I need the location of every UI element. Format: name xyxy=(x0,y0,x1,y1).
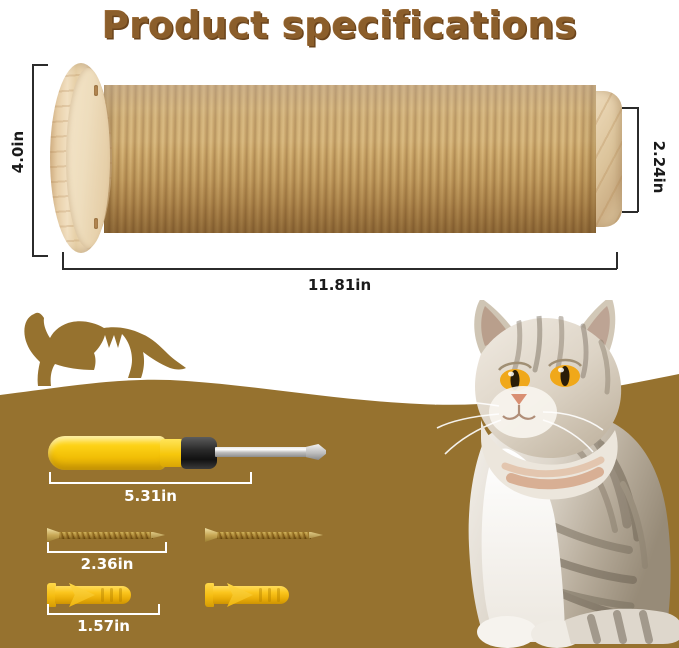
diameter-dimension-line xyxy=(637,107,639,212)
screwdriver-dimension-line xyxy=(49,482,252,484)
wood-screw-2 xyxy=(205,528,325,542)
page-title: Product specifications xyxy=(0,4,679,47)
anchor-rib xyxy=(268,588,271,602)
anchor-rib xyxy=(119,588,122,602)
product-specification-page: Product specifications 4.0in 2.24in 11.8… xyxy=(0,0,679,648)
length-dimension-label: 11.81in xyxy=(62,276,617,294)
anchor-rib xyxy=(101,588,104,602)
diameter-dimension-tick-top xyxy=(622,107,638,109)
wood-screw-1 xyxy=(47,528,167,542)
rope-shadow-right xyxy=(582,85,596,233)
screw-thread xyxy=(217,532,311,539)
length-dimension-line xyxy=(62,268,617,270)
screw-dimension-line xyxy=(47,551,167,553)
anchor-dimension-line xyxy=(47,613,160,615)
anchor-dimension-tick-right xyxy=(158,604,160,614)
anchor-rib xyxy=(277,588,280,602)
screwdriver-dimension-tick-right xyxy=(250,472,252,483)
product-diagram xyxy=(0,55,679,295)
screwdriver-ferrule xyxy=(181,437,217,469)
anchor-dimension-tick-left xyxy=(47,604,49,614)
wooden-mounting-disc xyxy=(50,63,112,253)
height-dimension-label: 4.0in xyxy=(9,122,27,182)
screwdriver-dimension-label: 5.31in xyxy=(49,487,252,505)
diameter-dimension-label: 2.24in xyxy=(650,134,668,200)
screwdriver-handle xyxy=(48,436,166,470)
length-dimension-tick-right xyxy=(616,252,618,269)
length-dimension-tick-left xyxy=(62,252,64,269)
height-dimension-tick-top xyxy=(32,64,48,66)
screw-point xyxy=(309,532,323,539)
screw-dimension-label: 2.36in xyxy=(47,555,167,573)
screwdriver-dimension-tick-left xyxy=(49,472,51,483)
anchor-rib xyxy=(110,588,113,602)
wall-anchor-1 xyxy=(47,583,137,607)
screw-point xyxy=(151,532,165,539)
height-dimension-tick-bottom xyxy=(32,255,48,257)
height-dimension-line xyxy=(32,64,34,256)
screwdriver-shaft xyxy=(215,447,311,457)
screw-thread xyxy=(59,532,153,539)
anchor-rib xyxy=(259,588,262,602)
sisal-rope-barrel xyxy=(104,85,596,233)
screw-hole-top xyxy=(94,85,98,96)
anchor-dimension-label: 1.57in xyxy=(47,617,160,635)
screw-dimension-tick-left xyxy=(47,542,49,552)
wall-anchor-2 xyxy=(205,583,295,607)
cat-photo xyxy=(415,300,679,648)
disc-front-face xyxy=(66,68,110,248)
screw-dimension-tick-right xyxy=(165,542,167,552)
screw-hole-bottom xyxy=(94,218,98,229)
cat-silhouette-icon xyxy=(10,308,210,413)
diameter-dimension-tick-bottom xyxy=(622,211,638,213)
